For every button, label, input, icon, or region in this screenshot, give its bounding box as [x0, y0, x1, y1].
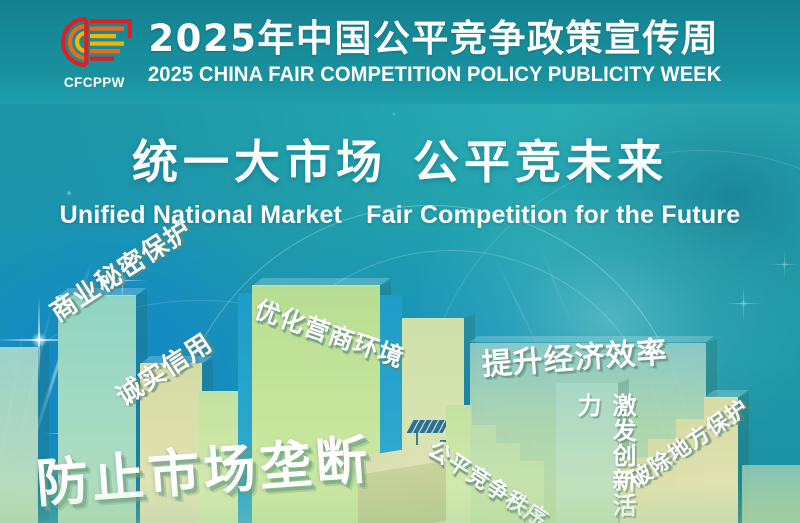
cfcppw-logo: CFCPPW [54, 16, 134, 90]
slogan-cn-part2: 公平竞未来 [413, 135, 668, 189]
header: CFCPPW 2025年中国公平竞争政策宣传周 2025 CHINA FAIR … [0, 16, 800, 90]
cfcppw-logo-text: CFCPPW [54, 75, 134, 90]
slogan-en: Unified National MarketFair Competition … [0, 200, 800, 230]
building-far-right [742, 465, 800, 523]
cfcppw-logo-icon [60, 16, 134, 68]
slogan-block: 统一大市场公平竞未来 Unified National MarketFair C… [0, 134, 800, 230]
building-label-innovation-vitality: 激发创新活力 [570, 393, 640, 523]
solar-panel-pole [416, 433, 418, 445]
slogan-cn-part1: 统一大市场 [132, 135, 387, 189]
building-roof [252, 278, 390, 286]
header-titles: 2025年中国公平竞争政策宣传周 2025 CHINA FAIR COMPETI… [148, 18, 745, 88]
slogan-cn: 统一大市场公平竞未来 [0, 134, 800, 190]
building-far-left [0, 347, 38, 523]
header-title-cn: 2025年中国公平竞争政策宣传周 [148, 18, 719, 60]
header-title-en: 2025 CHINA FAIR COMPETITION POLICY PUBLI… [148, 62, 721, 88]
slogan-en-part2: Fair Competition for the Future [366, 201, 740, 229]
fair-competition-week-poster: CFCPPW 2025年中国公平竞争政策宣传周 2025 CHINA FAIR … [0, 0, 800, 523]
slogan-en-part1: Unified National Market [60, 201, 342, 229]
